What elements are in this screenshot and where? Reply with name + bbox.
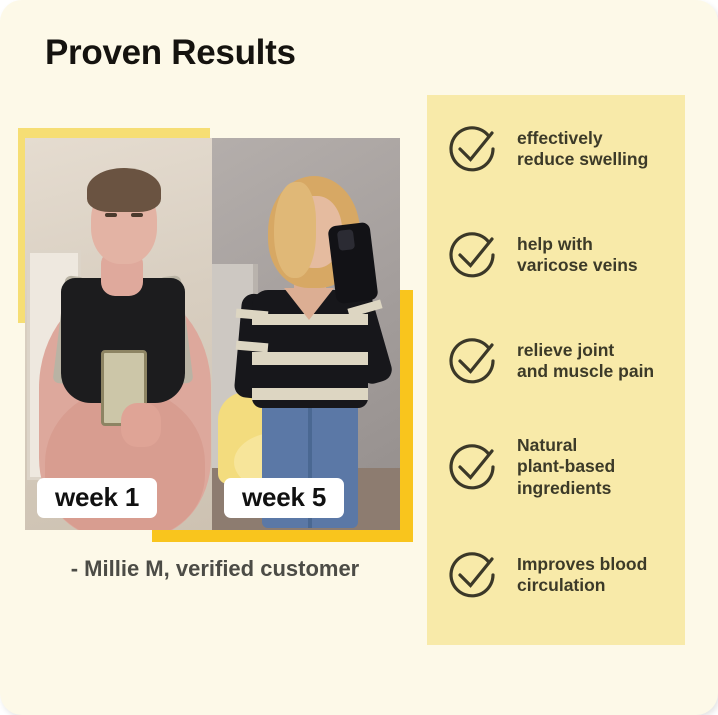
proven-results-card: Proven Results week 1 [0,0,718,715]
after-week-label: week 5 [224,478,344,518]
benefit-label-3: Natural plant-based ingredients [517,435,615,499]
before-photo-eye-right [131,213,143,217]
after-photo-phone-camera [337,229,355,251]
benefit-item-0: effectively reduce swelling [445,121,677,177]
after-photo-stripe-3 [252,388,368,400]
before-photo: week 1 [25,138,212,530]
benefit-item-3: Natural plant-based ingredients [445,435,677,499]
check-circle-icon [445,121,501,177]
before-week-label: week 1 [37,478,157,518]
before-photo-eye-left [105,213,117,217]
check-circle-icon [445,439,501,495]
after-photo: week 5 [212,138,400,530]
before-photo-hand [121,403,161,447]
benefit-item-2: relieve joint and muscle pain [445,333,677,389]
testimonial-text: - Millie M, verified customer [0,556,430,582]
benefit-label-4: Improves blood circulation [517,554,647,597]
benefits-panel: effectively reduce swelling help with va… [427,95,685,645]
benefit-label-0: effectively reduce swelling [517,128,648,171]
before-after-photos: week 1 [25,138,400,530]
after-photo-stripe-2 [252,352,368,365]
after-photo-hair-front [274,182,316,278]
before-after-photo-block: week 1 [0,0,430,600]
benefit-item-1: help with varicose veins [445,227,677,283]
check-circle-icon [445,227,501,283]
check-circle-icon [445,333,501,389]
benefit-item-4: Improves blood circulation [445,547,677,603]
check-circle-icon [445,547,501,603]
benefit-label-2: relieve joint and muscle pain [517,340,654,383]
before-photo-hair [87,168,161,212]
benefit-label-1: help with varicose veins [517,234,638,277]
